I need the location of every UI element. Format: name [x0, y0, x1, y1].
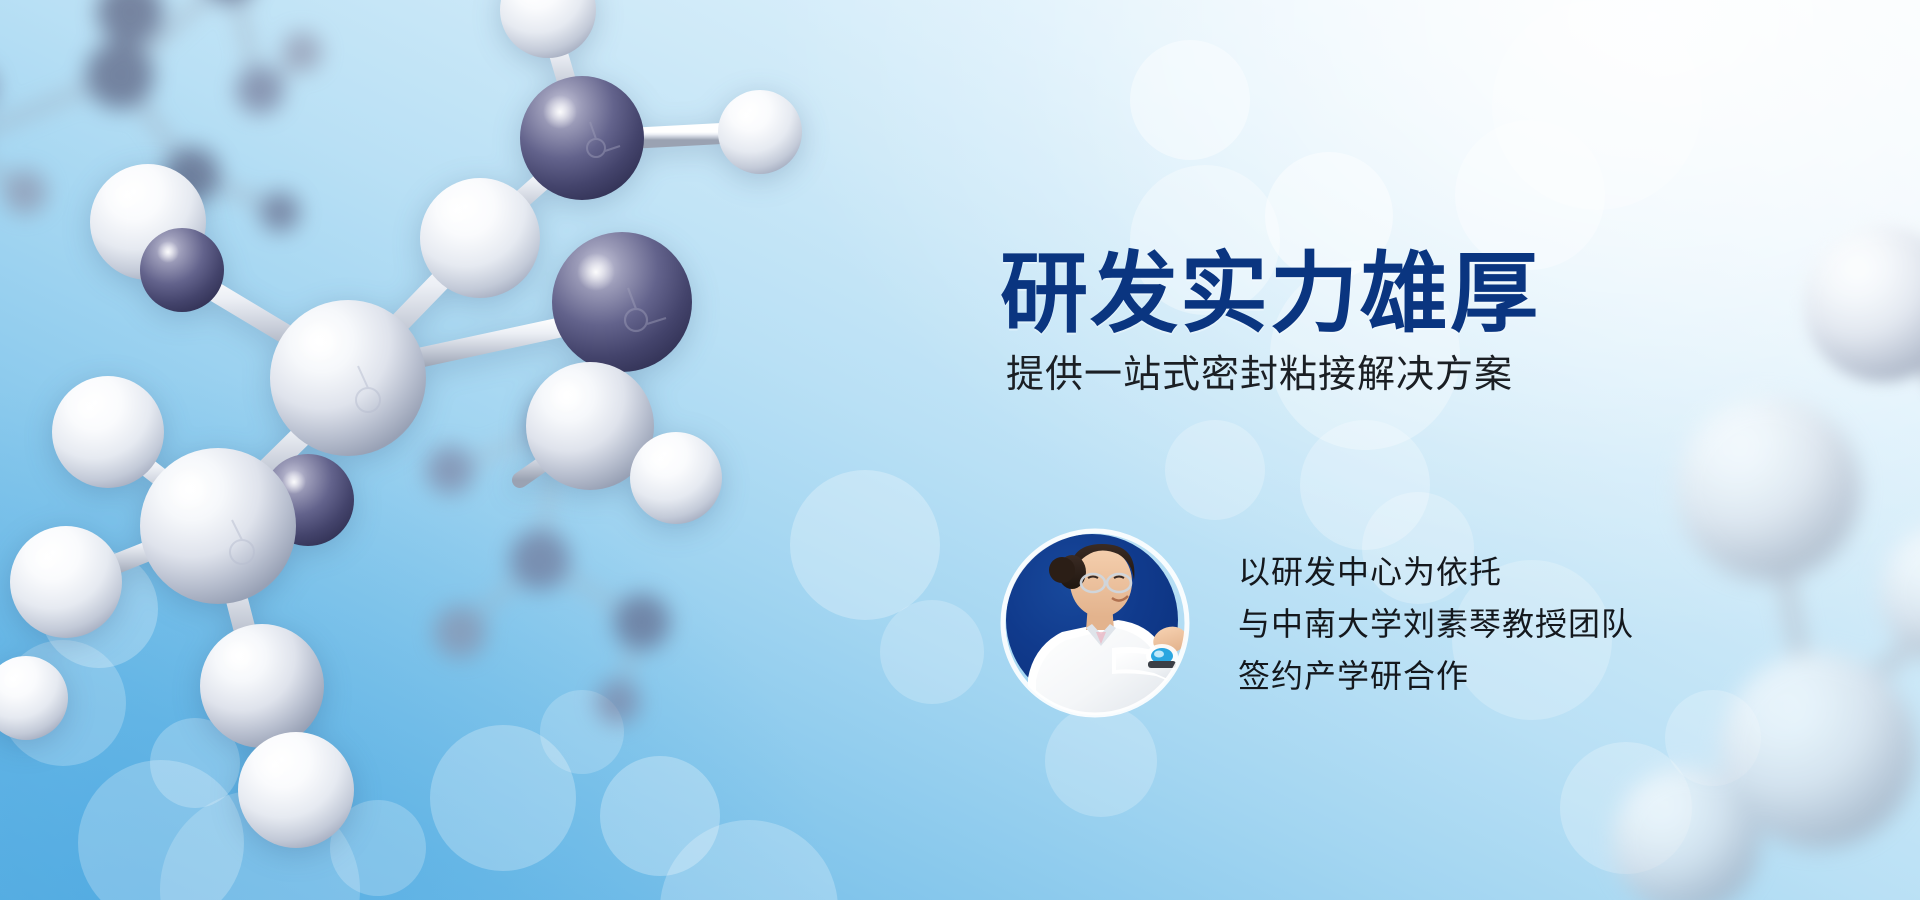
page-subtitle: 提供一站式密封粘接解决方案 [1006, 352, 1700, 398]
bokeh-circle [150, 718, 240, 808]
molecule-sphere [500, 0, 596, 58]
credentials-block: 以研发中心为依托 与中南大学刘素琴教授团队 签约产学研合作 [1000, 528, 1634, 718]
molecule-graphic-background-midleft [390, 330, 810, 730]
hero-banner: 研发实力雄厚 提供一站式密封粘接解决方案 [0, 0, 1920, 900]
researcher-photo-illustration [1000, 528, 1190, 718]
molecule-sphere [420, 178, 540, 298]
molecule-sphere [0, 656, 68, 740]
molecule-graphic-background-right-upper [1816, 200, 1920, 460]
list-item: 签约产学研合作 [1238, 655, 1634, 697]
bokeh-circle [540, 690, 624, 774]
bokeh-circle [1130, 40, 1250, 160]
bokeh-circle [1045, 705, 1157, 817]
credentials-list: 以研发中心为依托 与中南大学刘素琴教授团队 签约产学研合作 [1238, 549, 1634, 698]
bokeh-circle [790, 470, 940, 620]
molecule-sphere [526, 362, 654, 490]
bokeh-circle [1665, 690, 1761, 786]
bokeh-circle [660, 820, 838, 900]
molecule-sphere-dark [140, 228, 224, 312]
bokeh-circle [600, 756, 720, 876]
bokeh-circle [330, 800, 426, 896]
molecule-sphere [140, 448, 296, 604]
molecule-sphere [630, 432, 722, 524]
molecule-sphere [238, 732, 354, 848]
molecule-sphere [718, 90, 802, 174]
bokeh-circle [1165, 420, 1265, 520]
bokeh-circle [0, 640, 126, 766]
molecule-sphere [270, 300, 426, 456]
bokeh-circle [1492, 0, 1702, 210]
molecule-graphic-foreground [0, 0, 920, 900]
bokeh-circle [430, 725, 576, 871]
molecule-sphere [90, 164, 206, 280]
list-item: 与中南大学刘素琴教授团队 [1238, 603, 1634, 645]
background-glow-bottom-left [0, 0, 1920, 900]
molecule-sphere-dark [520, 76, 644, 200]
bokeh-circle [880, 600, 984, 704]
molecule-graphic-background-topleft [0, 0, 450, 280]
bokeh-circle [1560, 742, 1692, 874]
bokeh-circle [160, 790, 360, 900]
researcher-portrait [1000, 528, 1190, 718]
bokeh-circle [40, 550, 158, 668]
background-glow-top-right [0, 0, 1920, 900]
bokeh-circle [78, 760, 244, 900]
molecule-sphere [200, 624, 324, 748]
molecule-sphere [10, 526, 122, 638]
list-item: 以研发中心为依托 [1238, 551, 1634, 593]
molecule-sphere-dark [552, 232, 692, 372]
banner-text-block: 研发实力雄厚 提供一站式密封粘接解决方案 [1000, 250, 1700, 398]
molecule-graphic-background-right [1640, 330, 1920, 850]
molecule-sphere [52, 376, 164, 488]
molecule-sphere-dark [262, 454, 354, 546]
page-title: 研发实力雄厚 [1000, 250, 1700, 338]
